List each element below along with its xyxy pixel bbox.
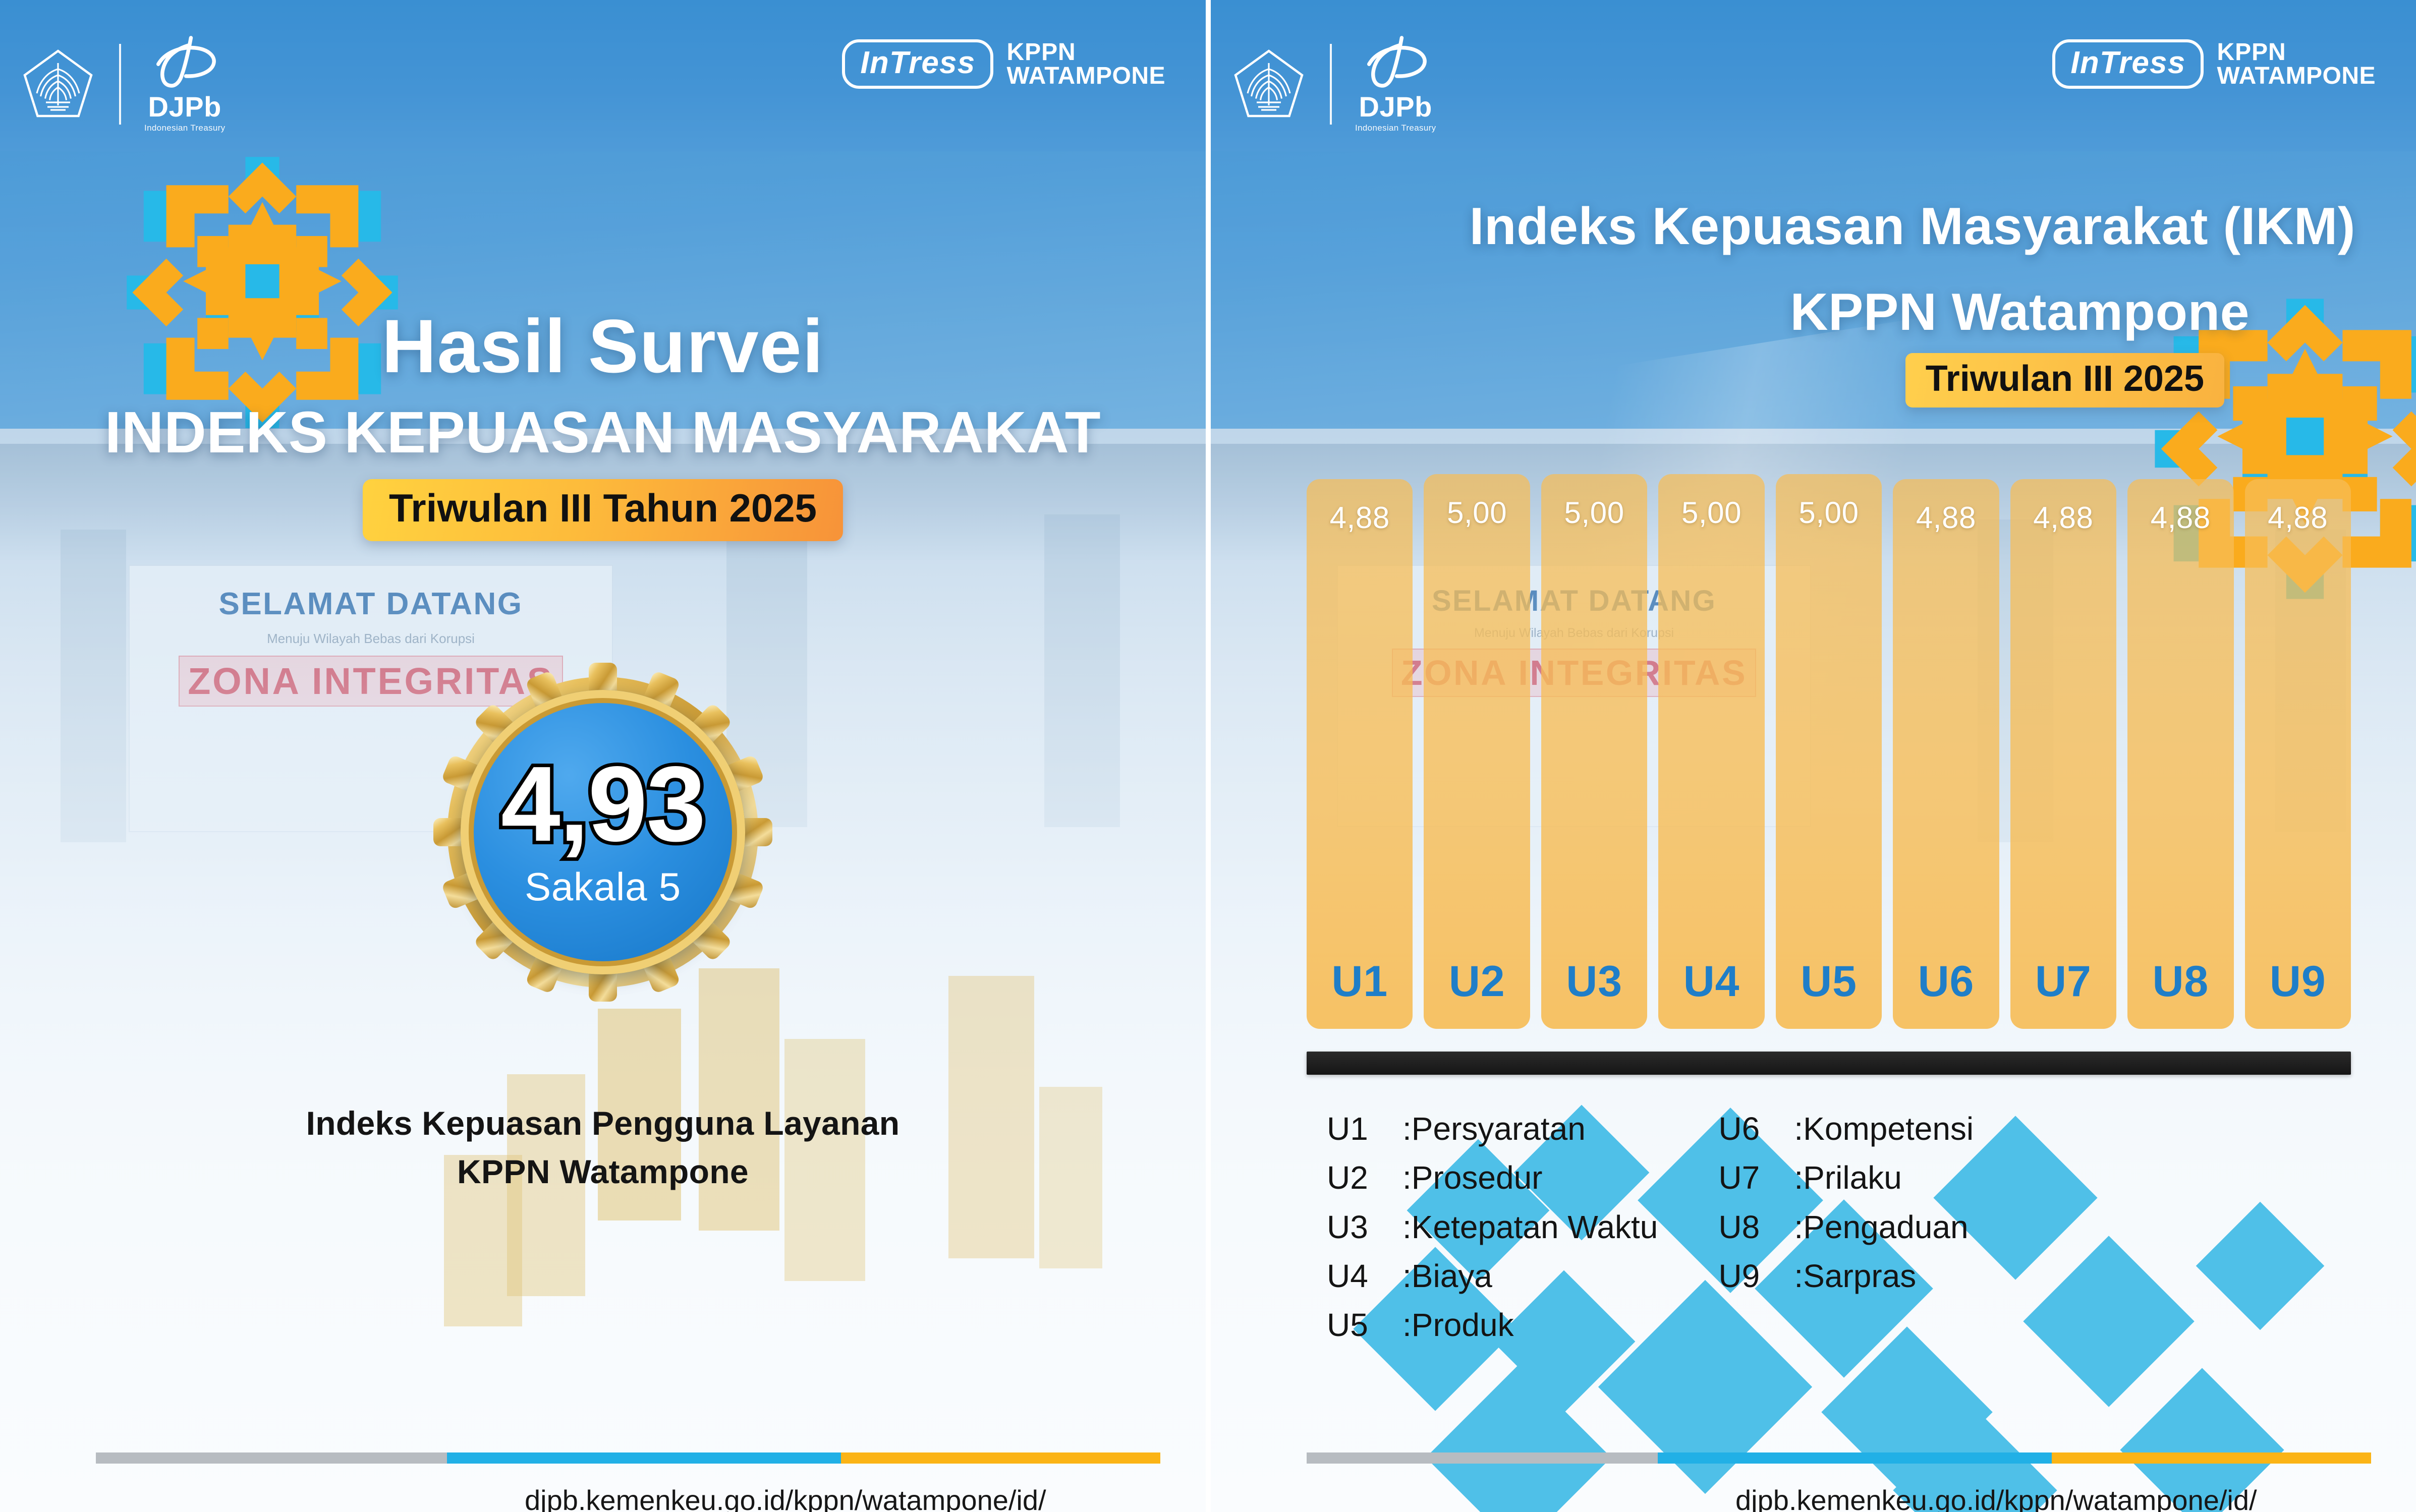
legend-item-key: U7	[1718, 1153, 1794, 1202]
chart-bar-label: U5	[1801, 957, 1857, 1007]
rule-segment-cyan	[1658, 1452, 2052, 1464]
chart-bar-label: U4	[1683, 957, 1740, 1007]
left-period-badge: Triwulan III Tahun 2025	[363, 479, 843, 541]
legend-item-u9: U9:Sarpras	[1718, 1252, 1974, 1301]
intress-box: InTress	[2052, 39, 2204, 89]
garuda-emblem-icon	[1231, 46, 1307, 122]
overall-score-value: 4,93	[501, 754, 705, 853]
chart-bar-u6: 4,88U6	[1893, 479, 1999, 1029]
legend-item-key: U1	[1327, 1104, 1402, 1153]
djpb-wordmark: DJPb	[1359, 93, 1432, 121]
legend-item-label: Persyaratan	[1412, 1104, 1586, 1153]
intress-box: InTress	[842, 39, 993, 89]
footer-rule-right	[1307, 1452, 2371, 1464]
logo-divider	[1330, 44, 1332, 125]
djpb-subtitle: Indonesian Treasury	[144, 123, 226, 133]
medal-inner-disc: 4,93 Sakala 5	[461, 690, 745, 974]
infographic-poster: SELAMAT DATANG Menuju Wilayah Bebas dari…	[0, 0, 2416, 1512]
legend-item-u5: U5:Produk	[1327, 1301, 1658, 1350]
chart-bar-value: 4,88	[2151, 500, 2211, 535]
legend-item-u7: U7:Prilaku	[1718, 1153, 1974, 1202]
chart-bar-value: 5,00	[1447, 495, 1507, 530]
intress-kppn-line1: KPPN	[2217, 40, 2376, 64]
chart-bar-value: 5,00	[1564, 495, 1624, 530]
legend-item-key: U8	[1718, 1203, 1794, 1252]
legend-item-label: Pengaduan	[1803, 1203, 1968, 1252]
footer-url-right[interactable]: djpb.kemenkeu.go.id/kppn/watampone/id/	[1735, 1484, 2257, 1512]
legend-item-label: Sarpras	[1803, 1252, 1916, 1301]
legend-item-u6: U6:Kompetensi	[1718, 1104, 1974, 1153]
legend-item-label: Kompetensi	[1803, 1104, 1974, 1153]
chart-bar-value: 4,88	[1330, 500, 1390, 535]
legend-item-key: U2	[1327, 1153, 1402, 1202]
djpb-logo-lockup: DJPb Indonesian Treasury	[20, 35, 226, 133]
legend-item-label: Produk	[1412, 1301, 1514, 1350]
rule-segment-gray	[1307, 1452, 1658, 1464]
chart-bar-u7: 4,88U7	[2010, 479, 2116, 1029]
chart-bar-label: U9	[2270, 957, 2326, 1007]
legend-item-label: Prilaku	[1803, 1153, 1902, 1202]
legend-item-key: U4	[1327, 1252, 1402, 1301]
legend-item-u2: U2:Prosedur	[1327, 1153, 1658, 1202]
left-panel: SELAMAT DATANG Menuju Wilayah Bebas dari…	[0, 0, 1206, 1512]
intress-logo-lockup-right: InTress KPPN WATAMPONE	[2052, 39, 2376, 89]
chart-bar-label: U1	[1331, 957, 1388, 1007]
garuda-emblem-icon	[20, 46, 96, 122]
left-caption: Indeks Kepuasan Pengguna Layanan KPPN Wa…	[0, 1099, 1206, 1196]
legend-item-separator: :	[1402, 1104, 1412, 1153]
legend-item-u1: U1:Persyaratan	[1327, 1104, 1658, 1153]
legend-item-separator: :	[1794, 1203, 1803, 1252]
legend-item-u3: U3:Ketepatan Waktu	[1327, 1203, 1658, 1252]
legend-item-key: U5	[1327, 1301, 1402, 1350]
chart-bar-value: 5,00	[1681, 495, 1741, 530]
legend-item-u4: U4:Biaya	[1327, 1252, 1658, 1301]
intress-kppn-text: KPPN WATAMPONE	[1006, 40, 1165, 88]
right-panel: SELAMAT DATANG Menuju Wilayah Bebas dari…	[1211, 0, 2416, 1512]
intress-wordmark: InTress	[2070, 47, 2185, 79]
right-title-line1: Indeks Kepuasan Masyarakat (IKM)	[1470, 197, 2355, 257]
right-period-badge: Triwulan III 2025	[1905, 353, 2224, 408]
chart-bar-value: 5,00	[1799, 495, 1859, 530]
legend-item-separator: :	[1402, 1252, 1412, 1301]
rule-segment-orange	[2052, 1452, 2371, 1464]
rule-segment-cyan	[447, 1452, 841, 1464]
intress-kppn-line1: KPPN	[1006, 40, 1165, 64]
intress-logo-lockup-left: InTress KPPN WATAMPONE	[842, 39, 1165, 89]
footer-rule-left	[96, 1452, 1160, 1464]
legend-item-separator: :	[1794, 1153, 1803, 1202]
logo-divider	[119, 44, 121, 125]
chart-bar-u9: 4,88U9	[2245, 479, 2351, 1029]
legend-item-label: Biaya	[1412, 1252, 1492, 1301]
legend-item-separator: :	[1402, 1153, 1412, 1202]
chart-bar-label: U8	[2152, 957, 2209, 1007]
djpb-mark: DJPb Indonesian Treasury	[1355, 35, 1436, 133]
footer-url-left[interactable]: djpb.kemenkeu.go.id/kppn/watampone/id/	[525, 1484, 1046, 1512]
legend-item-separator: :	[1402, 1301, 1412, 1350]
legend-item-key: U3	[1327, 1203, 1402, 1252]
chart-baseline-axis	[1307, 1052, 2351, 1075]
legend-item-key: U9	[1718, 1252, 1794, 1301]
chart-legend: U1:PersyaratanU2:ProsedurU3:Ketepatan Wa…	[1327, 1104, 2391, 1350]
chart-bar-label: U6	[1918, 957, 1975, 1007]
rule-segment-orange	[841, 1452, 1160, 1464]
legend-item-separator: :	[1794, 1252, 1803, 1301]
chart-bar-value: 4,88	[2033, 500, 2093, 535]
overall-score-scale: Sakala 5	[525, 864, 681, 910]
djpb-wordmark: DJPb	[148, 93, 221, 121]
chart-bar-u8: 4,88U8	[2127, 479, 2233, 1029]
intress-wordmark: InTress	[860, 47, 975, 79]
batik-ornament-icon	[121, 151, 404, 434]
right-title-line2: KPPN Watampone	[1790, 282, 2250, 342]
intress-kppn-line2: WATAMPONE	[1006, 64, 1165, 88]
legend-item-separator: :	[1794, 1104, 1803, 1153]
chart-bar-value: 4,88	[2268, 500, 2328, 535]
intress-kppn-line2: WATAMPONE	[2217, 64, 2376, 88]
legend-item-u8: U8:Pengaduan	[1718, 1203, 1974, 1252]
chart-bar-u4: 5,00U4	[1658, 474, 1764, 1029]
chart-bar-value: 4,88	[1916, 500, 1976, 535]
djpb-swoosh-icon	[1358, 35, 1433, 92]
chart-bar-u1: 4,88U1	[1307, 479, 1413, 1029]
legend-column-2: U6:KompetensiU7:PrilakuU8:PengaduanU9:Sa…	[1718, 1104, 1974, 1350]
left-title-line1: Hasil Survei	[0, 303, 1206, 390]
chart-bar-u3: 5,00U3	[1541, 474, 1647, 1029]
rule-segment-gray	[96, 1452, 447, 1464]
left-title-line2: INDEKS KEPUASAN MASYARAKAT	[0, 398, 1206, 466]
legend-item-separator: :	[1402, 1203, 1412, 1252]
chart-bar-label: U2	[1449, 957, 1505, 1007]
legend-item-label: Ketepatan Waktu	[1412, 1203, 1658, 1252]
ikm-bar-chart: 4,88U15,00U25,00U35,00U45,00U54,88U64,88…	[1307, 474, 2351, 1029]
djpb-subtitle: Indonesian Treasury	[1355, 123, 1436, 133]
left-caption-line1: Indeks Kepuasan Pengguna Layanan	[0, 1099, 1206, 1148]
score-medal: 4,93 Sakala 5	[426, 656, 779, 1009]
panel-divider	[1206, 0, 1211, 1512]
intress-kppn-text: KPPN WATAMPONE	[2217, 40, 2376, 88]
legend-column-1: U1:PersyaratanU2:ProsedurU3:Ketepatan Wa…	[1327, 1104, 1658, 1350]
djpb-mark: DJPb Indonesian Treasury	[144, 35, 226, 133]
left-caption-line2: KPPN Watampone	[0, 1148, 1206, 1196]
legend-item-label: Prosedur	[1412, 1153, 1543, 1202]
djpb-logo-lockup-right: DJPb Indonesian Treasury	[1231, 35, 1436, 133]
chart-bar-label: U3	[1566, 957, 1622, 1007]
legend-item-key: U6	[1718, 1104, 1794, 1153]
chart-bar-label: U7	[2035, 957, 2092, 1007]
chart-bar-u2: 5,00U2	[1424, 474, 1530, 1029]
chart-bar-u5: 5,00U5	[1776, 474, 1882, 1029]
djpb-swoosh-icon	[147, 35, 222, 92]
